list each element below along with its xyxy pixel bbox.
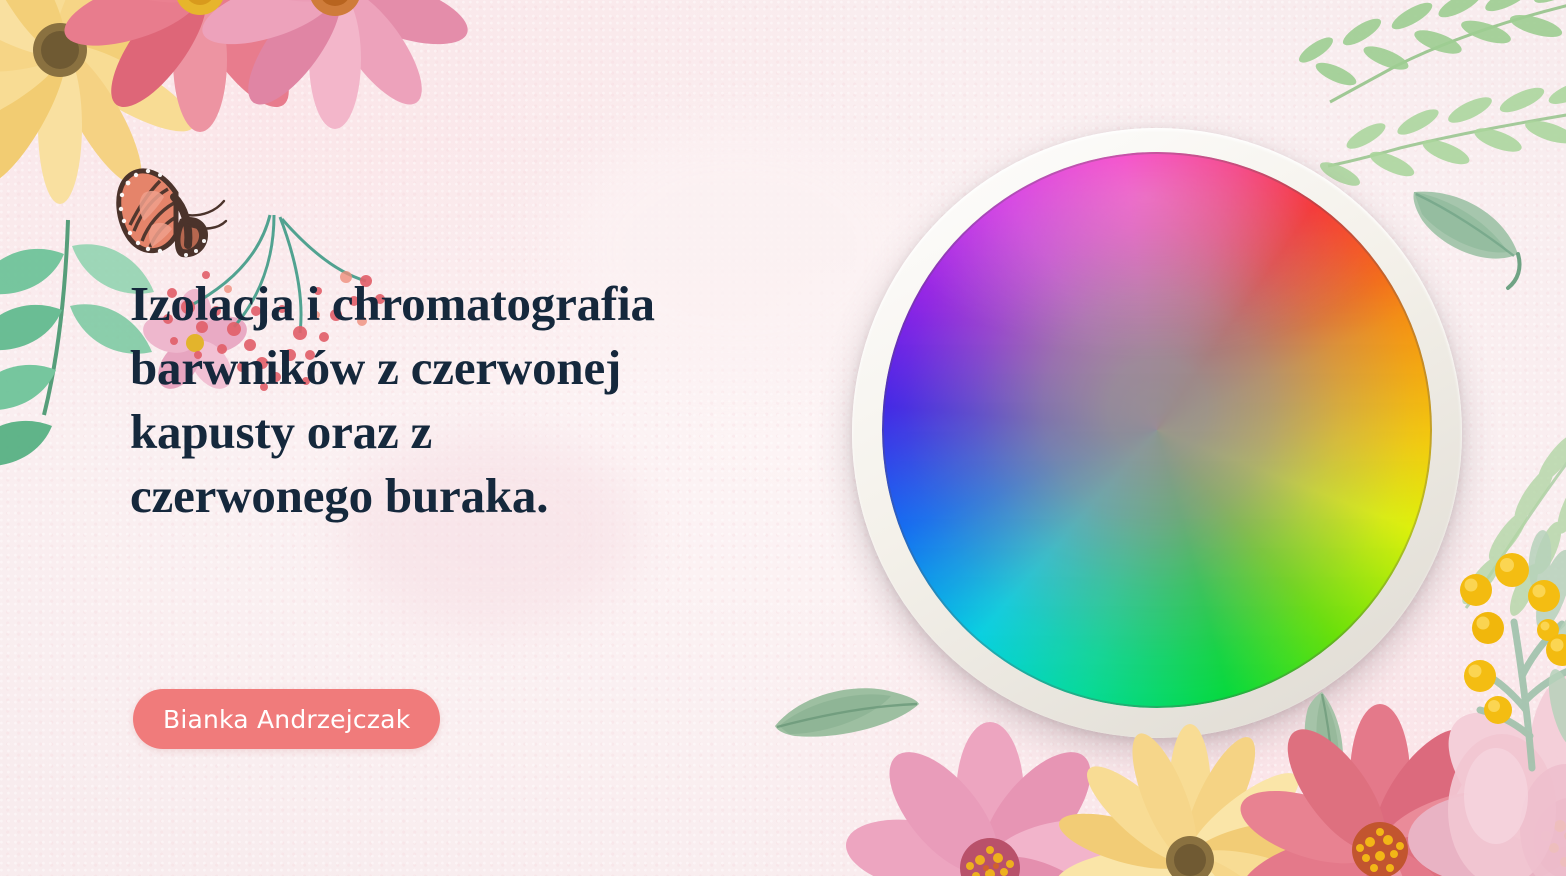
pink-zinnia-flower — [200, 0, 470, 125]
monarch-butterfly-icon — [104, 163, 224, 268]
title-line-3: kapusty oraz z — [130, 400, 790, 464]
title-line-4: czerwonego buraka. — [130, 464, 790, 528]
page-title: Izolacja i chromatografia barwników z cz… — [130, 272, 790, 528]
author-name: Bianka Andrzejczak — [163, 705, 410, 734]
color-wheel-disc — [882, 152, 1432, 708]
color-wheel-image — [852, 128, 1462, 738]
mimosa-berry-cluster — [1436, 540, 1566, 770]
author-badge: Bianka Andrzejczak — [133, 689, 440, 749]
presentation-slide: Izolacja i chromatografia barwników z cz… — [0, 0, 1566, 876]
color-wheel-inner-rim — [882, 152, 1432, 708]
title-line-2: barwników z czerwonej — [130, 336, 790, 400]
title-line-1: Izolacja i chromatografia — [130, 272, 790, 336]
